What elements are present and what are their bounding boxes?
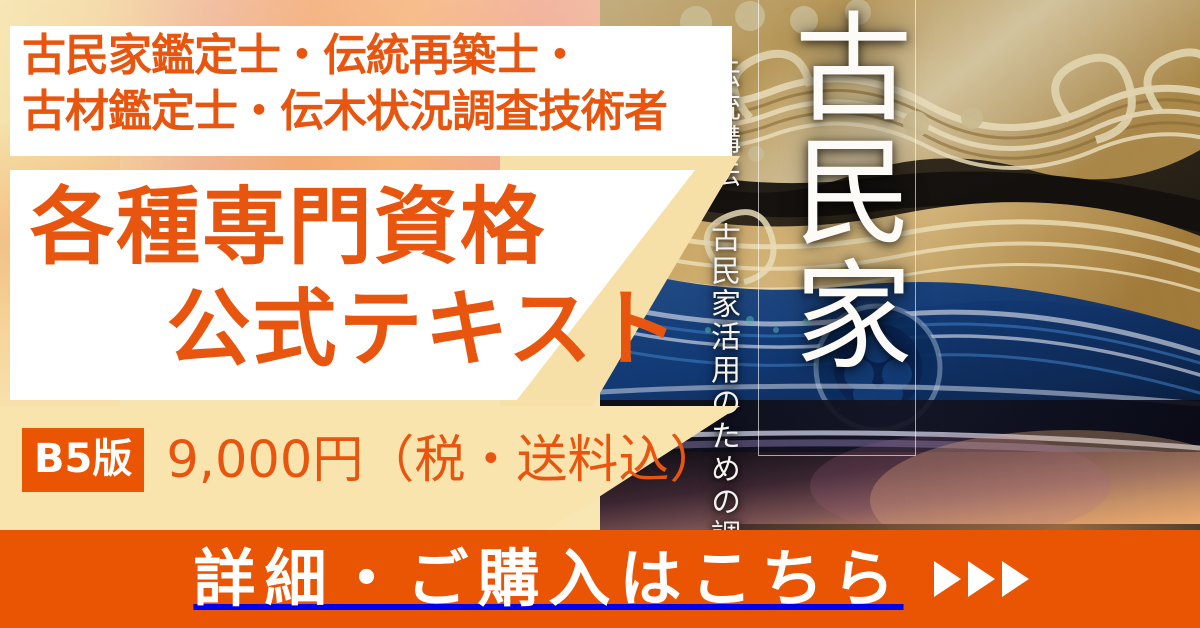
headline-line-2: 公式テキスト: [24, 278, 684, 380]
cta-bar[interactable]: 詳細・ご購入はこちら: [0, 530, 1200, 628]
headline-text: 各種専門資格 公式テキスト: [24, 176, 684, 381]
qualifications-line-2: 古材鑑定士・伝木状況調査技術者: [22, 84, 722, 140]
price-amount: 9,000円（税・送料込）: [166, 435, 720, 486]
play-arrow-icon: [934, 561, 961, 597]
cta-arrows: [934, 561, 1029, 597]
promo-banner: 伝統構法 古民家活用のための調査と再生の 古民家 古民家鑑定士・伝統再築士・ 古…: [0, 0, 1200, 628]
play-arrow-icon: [1002, 561, 1029, 597]
headline-line-1: 各種専門資格: [24, 176, 684, 278]
qualifications-text: 古民家鑑定士・伝統再築士・ 古材鑑定士・伝木状況調査技術者: [22, 28, 722, 141]
cover-main-title: 古民家: [760, 6, 912, 378]
qualifications-line-1: 古民家鑑定士・伝統再築士・: [22, 28, 722, 84]
play-arrow-icon: [968, 561, 995, 597]
price-row: B5版 9,000円（税・送料込）: [22, 428, 720, 492]
cta-label: 詳細・ご購入はこちら: [171, 548, 903, 610]
format-badge: B5版: [22, 428, 144, 492]
